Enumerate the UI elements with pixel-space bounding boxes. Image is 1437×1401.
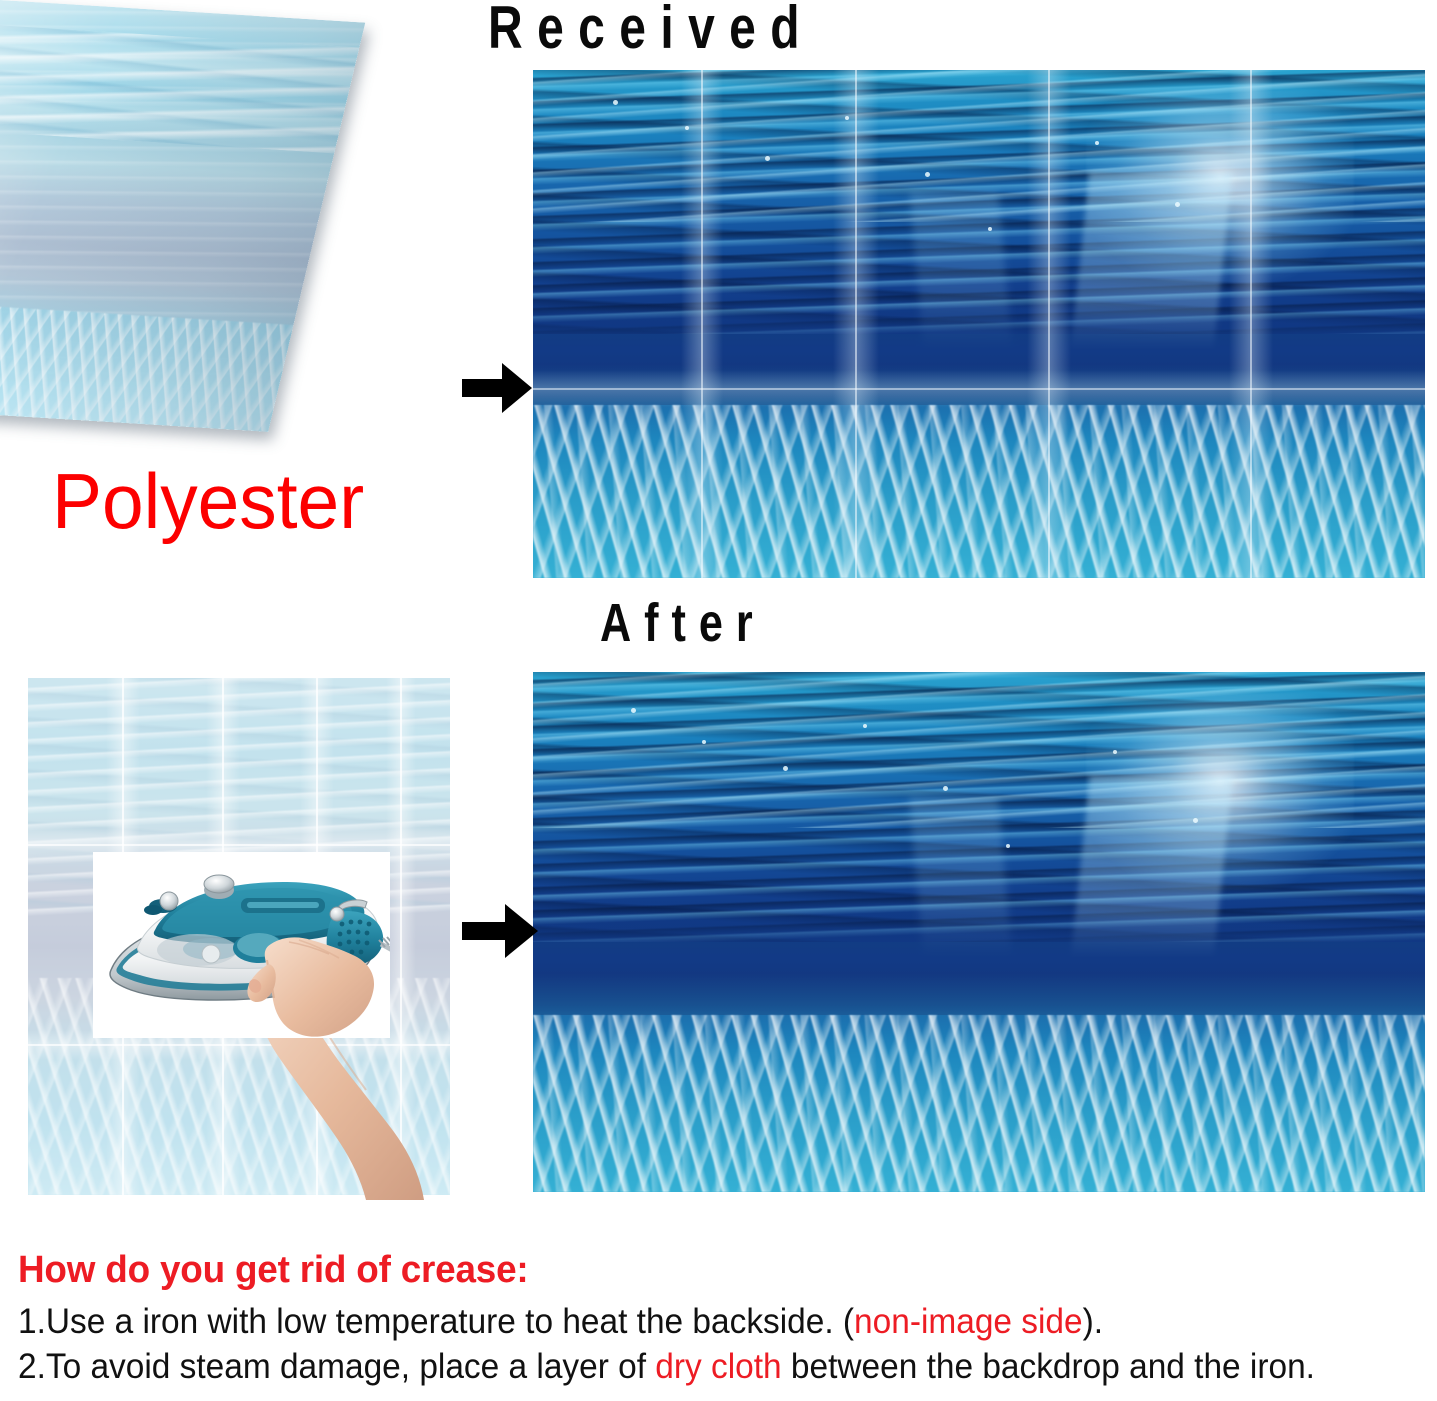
polyester-fabric-roll: [0, 0, 365, 432]
fabric-shading: [0, 0, 365, 432]
instruction-line-2-prefix: 2.To avoid steam damage, place a layer o…: [18, 1347, 655, 1386]
seafloor-caustics: [533, 1015, 1425, 1192]
instructions-block: How do you get rid of crease: 1.Use a ir…: [18, 1248, 1428, 1389]
instruction-line-1-suffix: ).: [1083, 1302, 1103, 1341]
received-section-title: Received: [488, 0, 814, 60]
polyester-material-label: Polyester: [52, 460, 364, 542]
after-backdrop-photo-smooth: [533, 672, 1425, 1192]
right-arrow-icon-received: [462, 361, 534, 415]
instructions-heading: How do you get rid of crease:: [18, 1248, 1386, 1292]
instruction-line-1-prefix: 1.Use a iron with low temperature to hea…: [18, 1302, 854, 1341]
instruction-line-1: 1.Use a iron with low temperature to hea…: [18, 1299, 1365, 1344]
instruction-line-2-suffix: between the backdrop and the iron.: [782, 1347, 1315, 1386]
steam-iron-with-hand: [93, 852, 390, 1038]
instruction-line-1-highlight: non-image side: [854, 1302, 1083, 1341]
right-arrow-icon-after: [462, 902, 540, 960]
received-backdrop-photo-with-creases: [533, 70, 1425, 578]
after-section-title: After: [600, 594, 766, 652]
seafloor-fade: [533, 365, 1425, 406]
seafloor-fade: [533, 974, 1425, 1016]
iron-illustration: [93, 852, 390, 1038]
seafloor-caustics: [533, 405, 1425, 578]
instruction-line-2-highlight: dry cloth: [655, 1347, 781, 1386]
instruction-line-2: 2.To avoid steam damage, place a layer o…: [18, 1344, 1365, 1389]
